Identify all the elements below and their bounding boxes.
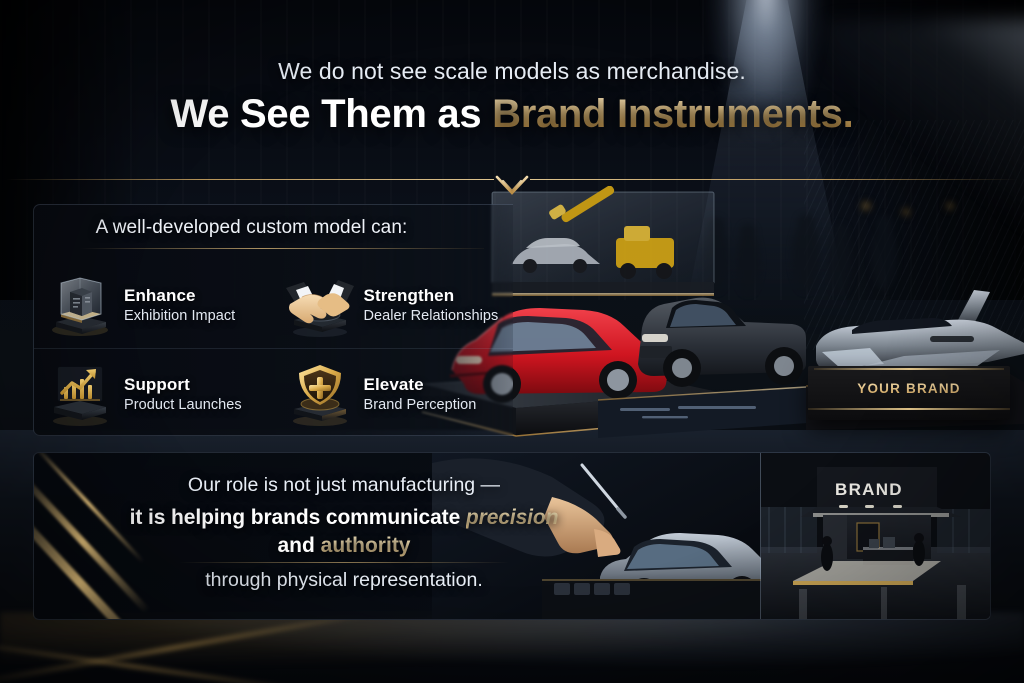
your-brand-plinth: YOUR BRAND bbox=[808, 366, 1010, 420]
feature-title: Enhance bbox=[124, 286, 235, 306]
quote-line-4: through physical representation. bbox=[34, 569, 654, 592]
feature-title: Support bbox=[124, 375, 242, 395]
feature-text: Enhance Exhibition Impact bbox=[124, 284, 235, 324]
exhibition-booth-photo: BRAND bbox=[760, 453, 991, 619]
feature-row: Enhance Exhibition Impact bbox=[34, 260, 513, 348]
shield-plus-icon bbox=[284, 359, 356, 427]
feature-title: Elevate bbox=[364, 375, 477, 395]
quote-underline bbox=[179, 562, 509, 563]
feature-grid: Enhance Exhibition Impact bbox=[34, 260, 513, 436]
feature-text: Strengthen Dealer Relationships bbox=[364, 284, 499, 324]
feature-subtitle: Brand Perception bbox=[364, 397, 477, 413]
feature-item-support[interactable]: Support Product Launches bbox=[34, 349, 274, 436]
headline-subtitle: We do not see scale models as merchandis… bbox=[0, 58, 1024, 85]
feature-item-strengthen[interactable]: Strengthen Dealer Relationships bbox=[274, 260, 514, 348]
svg-text:BRAND: BRAND bbox=[835, 480, 903, 499]
feature-item-enhance[interactable]: Enhance Exhibition Impact bbox=[34, 260, 274, 348]
quote-panel: BRAND Our role is not just manufacturing… bbox=[33, 452, 991, 620]
feature-row: Support Product Launches bbox=[34, 348, 513, 436]
feature-panel-title: A well-developed custom model can: bbox=[34, 217, 513, 239]
quote-line-1: Our role is not just manufacturing — bbox=[34, 474, 654, 497]
exhibition-booth-illustration: BRAND bbox=[761, 453, 991, 619]
quote-line-3-plain: and bbox=[277, 534, 320, 557]
feature-subtitle: Product Launches bbox=[124, 397, 242, 413]
display-case-icon bbox=[44, 270, 116, 338]
feature-text: Elevate Brand Perception bbox=[364, 373, 477, 413]
headline-divider bbox=[0, 168, 1024, 202]
headline-block: We do not see scale models as merchandis… bbox=[0, 58, 1024, 137]
plinth-gold-edge bbox=[814, 368, 1004, 370]
plinth-gold-edge bbox=[808, 408, 1010, 410]
chevron-down-icon bbox=[492, 174, 532, 202]
handshake-icon bbox=[284, 270, 356, 338]
quote-line-2-plain: it is helping brands communicate bbox=[130, 506, 466, 529]
feature-item-elevate[interactable]: Elevate Brand Perception bbox=[274, 349, 514, 436]
feature-panel: A well-developed custom model can: bbox=[33, 204, 513, 436]
divider-line-right bbox=[530, 179, 1018, 180]
quote-line-3-emphasis: authority bbox=[321, 534, 411, 557]
feature-text: Support Product Launches bbox=[124, 373, 242, 413]
quote-line-3: and authority bbox=[34, 534, 654, 558]
growth-chart-icon bbox=[44, 359, 116, 427]
feature-subtitle: Dealer Relationships bbox=[364, 308, 499, 324]
quote-line-2-emphasis: precision bbox=[466, 506, 558, 529]
divider-line-left bbox=[6, 179, 494, 180]
headline-main: We See Them as Brand Instruments. bbox=[0, 92, 1024, 137]
headline-main-gold: Brand Instruments. bbox=[492, 92, 853, 136]
feature-subtitle: Exhibition Impact bbox=[124, 308, 235, 324]
feature-title: Strengthen bbox=[364, 286, 499, 306]
your-brand-label: YOUR BRAND bbox=[808, 381, 1010, 396]
quote-text-block: Our role is not just manufacturing — it … bbox=[34, 474, 654, 592]
feature-panel-rule bbox=[80, 248, 484, 249]
quote-line-2: it is helping brands communicate precisi… bbox=[34, 506, 654, 530]
headline-main-white: We See Them as bbox=[171, 92, 493, 136]
